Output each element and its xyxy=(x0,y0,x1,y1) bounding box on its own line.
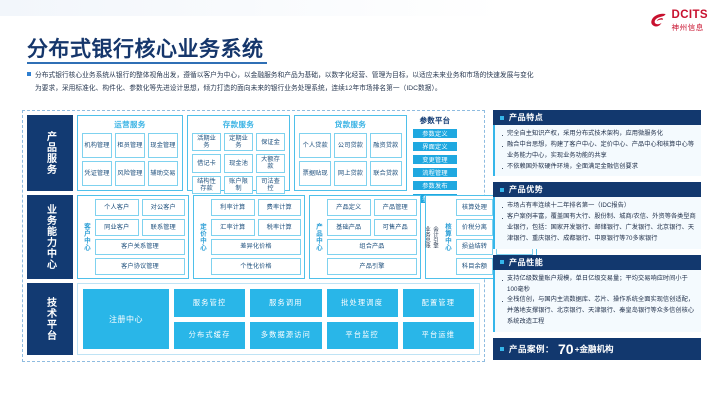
architecture-diagram: 产品服务 运营服务 机构管理 柜员管理 现金管理 凭证管理 风险管理 辅助交易 … xyxy=(22,110,485,362)
cell-deposit-5[interactable]: 现金池 xyxy=(224,154,253,172)
accounting-sub-labels: 会计引擎 业务总账 xyxy=(429,199,439,275)
cell-customer-5[interactable]: 客户关系管理 xyxy=(95,239,185,256)
cell-pricing-1[interactable]: 利率计算 xyxy=(211,199,255,216)
cell-customer-2[interactable]: 对公客户 xyxy=(142,199,186,216)
param-button-4[interactable]: 流程管理 xyxy=(413,168,457,177)
cell-pricing-3[interactable]: 汇率计算 xyxy=(211,219,255,236)
card-body-features: 完全自主知识产权，采用分布式技术架构，应用微服务化 融合中台思想，构建了客户中心… xyxy=(493,125,701,176)
cell-operation-5[interactable]: 风险管理 xyxy=(115,161,145,186)
cell-deposit-8[interactable]: 账户限制 xyxy=(224,176,253,194)
card-head-features: 产品特点 xyxy=(493,110,701,125)
cell-customer-4[interactable]: 联系管理 xyxy=(142,219,186,236)
cell-operation-3[interactable]: 现金管理 xyxy=(148,133,178,158)
band-label-tech: 技术平台 xyxy=(27,283,73,355)
cell-deposit-6[interactable]: 大额存款 xyxy=(256,154,285,172)
cell-product-3[interactable]: 基础产品 xyxy=(327,219,371,236)
param-platform-title: 参数平台 xyxy=(420,115,451,126)
bullet-square-icon xyxy=(27,72,31,76)
cell-pricing-6[interactable]: 个性化价格 xyxy=(211,258,301,275)
group-loan-services: 贷款服务 个人贷款 公司贷款 融资贷款 票据贴现 网上贷款 联合贷款 xyxy=(294,115,407,191)
page-description: 分布式银行核心业务系统从银行的整体视角出发，遵循以客户为中心，以金融服务和产品为… xyxy=(27,69,699,95)
center-name-customer: 客户中心 xyxy=(81,199,92,275)
cell-operation-4[interactable]: 凭证管理 xyxy=(82,161,112,186)
card-head-advantages: 产品优势 xyxy=(493,182,701,197)
center-pricing: 定价中心 利率计算 费率计算 汇率计算 税率计算 差异化价格 个性化价格 xyxy=(193,195,305,279)
band-product-services: 产品服务 运营服务 机构管理 柜员管理 现金管理 凭证管理 风险管理 辅助交易 … xyxy=(27,115,480,191)
cell-product-4[interactable]: 可售产品 xyxy=(374,219,418,236)
cell-product-6[interactable]: 产品引擎 xyxy=(327,258,417,275)
cell-accounting-1[interactable]: 核算处理 xyxy=(456,199,493,216)
bullet-square-icon xyxy=(500,188,504,192)
cell-pricing-2[interactable]: 费率计算 xyxy=(258,199,302,216)
group-title-operation: 运营服务 xyxy=(82,119,178,130)
cell-loan-1[interactable]: 个人贷款 xyxy=(299,133,331,158)
cell-deposit-1[interactable]: 活期业务 xyxy=(192,133,221,151)
right-info-panel: 产品特点 完全自主知识产权，采用分布式技术架构，应用微服务化 融合中台思想，构建… xyxy=(493,110,701,360)
band-capability-centers: 业务能力中心 客户中心 个人客户 对公客户 同业客户 联系管理 客户关系管理 xyxy=(27,195,480,279)
tech-cell-6[interactable]: 多数据源访问 xyxy=(250,322,321,350)
description-line-2: 为要求，采用标准化、构件化、参数化等先进设计思想，倾力打造的面向未来的银行业务处… xyxy=(35,85,442,92)
group-operation-services: 运营服务 机构管理 柜员管理 现金管理 凭证管理 风险管理 辅助交易 xyxy=(77,115,183,191)
cell-product-1[interactable]: 产品定义 xyxy=(327,199,371,216)
cell-loan-2[interactable]: 公司贷款 xyxy=(334,133,366,158)
card-title-features: 产品特点 xyxy=(509,112,543,123)
tech-cell-2[interactable]: 服务调用 xyxy=(250,289,321,317)
cell-accounting-7[interactable]: 科目余额 xyxy=(456,258,493,275)
center-product: 产品中心 产品定义 产品管理 基础产品 可售产品 组合产品 产品引擎 xyxy=(309,195,421,279)
card-body-performance: 支持亿级数量账户规模，单日亿级交易量；平均交易响应时间小于100毫秒 全栈信创，… xyxy=(493,270,701,332)
cell-customer-6[interactable]: 客户协议管理 xyxy=(95,258,185,275)
cell-deposit-9[interactable]: 司法查控 xyxy=(256,176,285,194)
card-product-advantages: 产品优势 市场占有率连续十二年排名第一（IDC报告） 客户案例丰富，覆盖国有大行… xyxy=(493,182,701,248)
performance-bullet-1: 支持亿级数量账户规模，单日亿级交易量；平均交易响应时间小于100毫秒 xyxy=(501,274,696,296)
cell-loan-3[interactable]: 融资贷款 xyxy=(370,133,402,158)
cell-deposit-3[interactable]: 保证金 xyxy=(256,133,285,151)
card-title-performance: 产品性能 xyxy=(509,257,543,268)
center-name-product: 产品中心 xyxy=(313,199,324,275)
tech-cell-1[interactable]: 服务管控 xyxy=(174,289,245,317)
tech-cell-8[interactable]: 平台运维 xyxy=(403,322,474,350)
cell-customer-1[interactable]: 个人客户 xyxy=(95,199,139,216)
group-title-deposit: 存款服务 xyxy=(192,119,285,130)
brand-logo: DCITS 神州信息 xyxy=(649,10,709,31)
feature-bullet-1: 完全自主知识产权，采用分布式技术架构，应用微服务化 xyxy=(501,129,696,140)
card-product-performance: 产品性能 支持亿级数量账户规模，单日亿级交易量；平均交易响应时间小于100毫秒 … xyxy=(493,255,701,332)
accounting-sub-top: 会计引擎 xyxy=(431,226,439,248)
cell-accounting-3[interactable]: 价税分离 xyxy=(456,219,493,236)
param-button-5[interactable]: 参数发布 xyxy=(413,181,457,190)
cell-operation-2[interactable]: 柜员管理 xyxy=(115,133,145,158)
logo-text-cn: 神州信息 xyxy=(672,24,709,32)
case-number: 70 xyxy=(558,341,574,357)
center-name-accounting: 核算中心 xyxy=(442,199,453,275)
cell-product-2[interactable]: 产品管理 xyxy=(374,199,418,216)
feature-bullet-2: 融合中台思想，构建了客户中心、定价中心、产品中心和核算中心等业务能力中心，实现业… xyxy=(501,140,696,162)
band-label-product-services: 产品服务 xyxy=(27,115,73,191)
page-title: 分布式银行核心业务系统 xyxy=(27,33,264,63)
cell-accounting-5[interactable]: 损益结转 xyxy=(456,239,493,256)
swirl-logo-icon xyxy=(649,11,668,30)
cell-loan-5[interactable]: 网上贷款 xyxy=(334,161,366,186)
center-customer: 客户中心 个人客户 对公客户 同业客户 联系管理 客户关系管理 客户协议管理 xyxy=(77,195,189,279)
cell-product-5[interactable]: 组合产品 xyxy=(327,239,417,256)
param-button-2[interactable]: 界面定义 xyxy=(413,142,457,151)
param-platform-column: 参数平台 参数定义 界面定义 变更管理 流程管理 参数发布 参数对比 xyxy=(411,115,459,191)
card-body-advantages: 市场占有率连续十二年排名第一（IDC报告） 客户案例丰富，覆盖国有大行、股份制、… xyxy=(493,197,701,248)
cell-loan-6[interactable]: 联合贷款 xyxy=(370,161,402,186)
tech-cell-4[interactable]: 配置管理 xyxy=(403,289,474,317)
case-tail: +金融机构 xyxy=(575,343,614,355)
advantage-bullet-2: 客户案例丰富，覆盖国有大行、股份制、城商/农信、外资等各类型商业银行，包括：国家… xyxy=(501,212,696,245)
tech-cell-3[interactable]: 批处理调度 xyxy=(327,289,398,317)
logo-text-en: DCITS xyxy=(672,10,709,22)
group-title-loan: 贷款服务 xyxy=(299,119,402,130)
cell-deposit-7[interactable]: 结构性存款 xyxy=(192,176,221,194)
performance-bullet-2: 全栈信创，与国内主流数据库、芯片、操作系统全面实现信创适配，并落地支撑银行、北京… xyxy=(501,295,696,328)
cell-customer-3[interactable]: 同业客户 xyxy=(95,219,139,236)
feature-bullet-3: 不依赖国外软硬件环境，全面满足金融信创要求 xyxy=(501,162,696,173)
accounting-sub-bottom: 业务总账 xyxy=(423,226,431,248)
case-label: 产品案例： xyxy=(509,343,554,355)
slide-root: DCITS 神州信息 分布式银行核心业务系统 分布式银行核心业务系统从银行的整体… xyxy=(0,0,720,405)
tech-cell-7[interactable]: 平台监控 xyxy=(327,322,398,350)
group-deposit-services: 存款服务 活期业务 定期业务 保证金 借记卡 现金池 大额存款 结构性存款 账户… xyxy=(187,115,290,191)
card-head-performance: 产品性能 xyxy=(493,255,701,270)
cell-operation-1[interactable]: 机构管理 xyxy=(82,133,112,158)
cell-deposit-2[interactable]: 定期业务 xyxy=(224,133,253,151)
register-center-block[interactable]: 注册中心 xyxy=(83,289,169,349)
bullet-square-icon xyxy=(500,347,504,351)
product-case-bar: 产品案例： 70 +金融机构 xyxy=(493,338,701,360)
cell-operation-6[interactable]: 辅助交易 xyxy=(148,161,178,186)
card-title-advantages: 产品优势 xyxy=(509,184,543,195)
cell-pricing-5[interactable]: 差异化价格 xyxy=(211,239,301,256)
description-line-1: 分布式银行核心业务系统从银行的整体视角出发，遵循以客户为中心，以金融服务和产品为… xyxy=(35,72,534,79)
band-tech-platform: 技术平台 注册中心 服务管控 服务调用 批处理调度 配置管理 分布式缓存 多数据… xyxy=(27,283,480,355)
cell-loan-4[interactable]: 票据贴现 xyxy=(299,161,331,186)
top-accent-bar xyxy=(0,0,720,16)
cell-deposit-4[interactable]: 借记卡 xyxy=(192,154,221,172)
tech-cell-5[interactable]: 分布式缓存 xyxy=(174,322,245,350)
param-button-3[interactable]: 变更管理 xyxy=(413,155,457,164)
bullet-square-icon xyxy=(500,260,504,264)
param-button-1[interactable]: 参数定义 xyxy=(413,129,457,138)
bullet-square-icon xyxy=(500,116,504,120)
band-label-capability: 业务能力中心 xyxy=(27,195,73,279)
center-name-pricing: 定价中心 xyxy=(197,199,208,275)
cell-pricing-4[interactable]: 税率计算 xyxy=(258,219,302,236)
card-product-features: 产品特点 完全自主知识产权，采用分布式技术架构，应用微服务化 融合中台思想，构建… xyxy=(493,110,701,176)
tech-platform-wrap: 注册中心 服务管控 服务调用 批处理调度 配置管理 分布式缓存 多数据源访问 平… xyxy=(77,283,480,355)
advantage-bullet-1: 市场占有率连续十二年排名第一（IDC报告） xyxy=(501,201,696,212)
title-underline xyxy=(27,62,267,64)
